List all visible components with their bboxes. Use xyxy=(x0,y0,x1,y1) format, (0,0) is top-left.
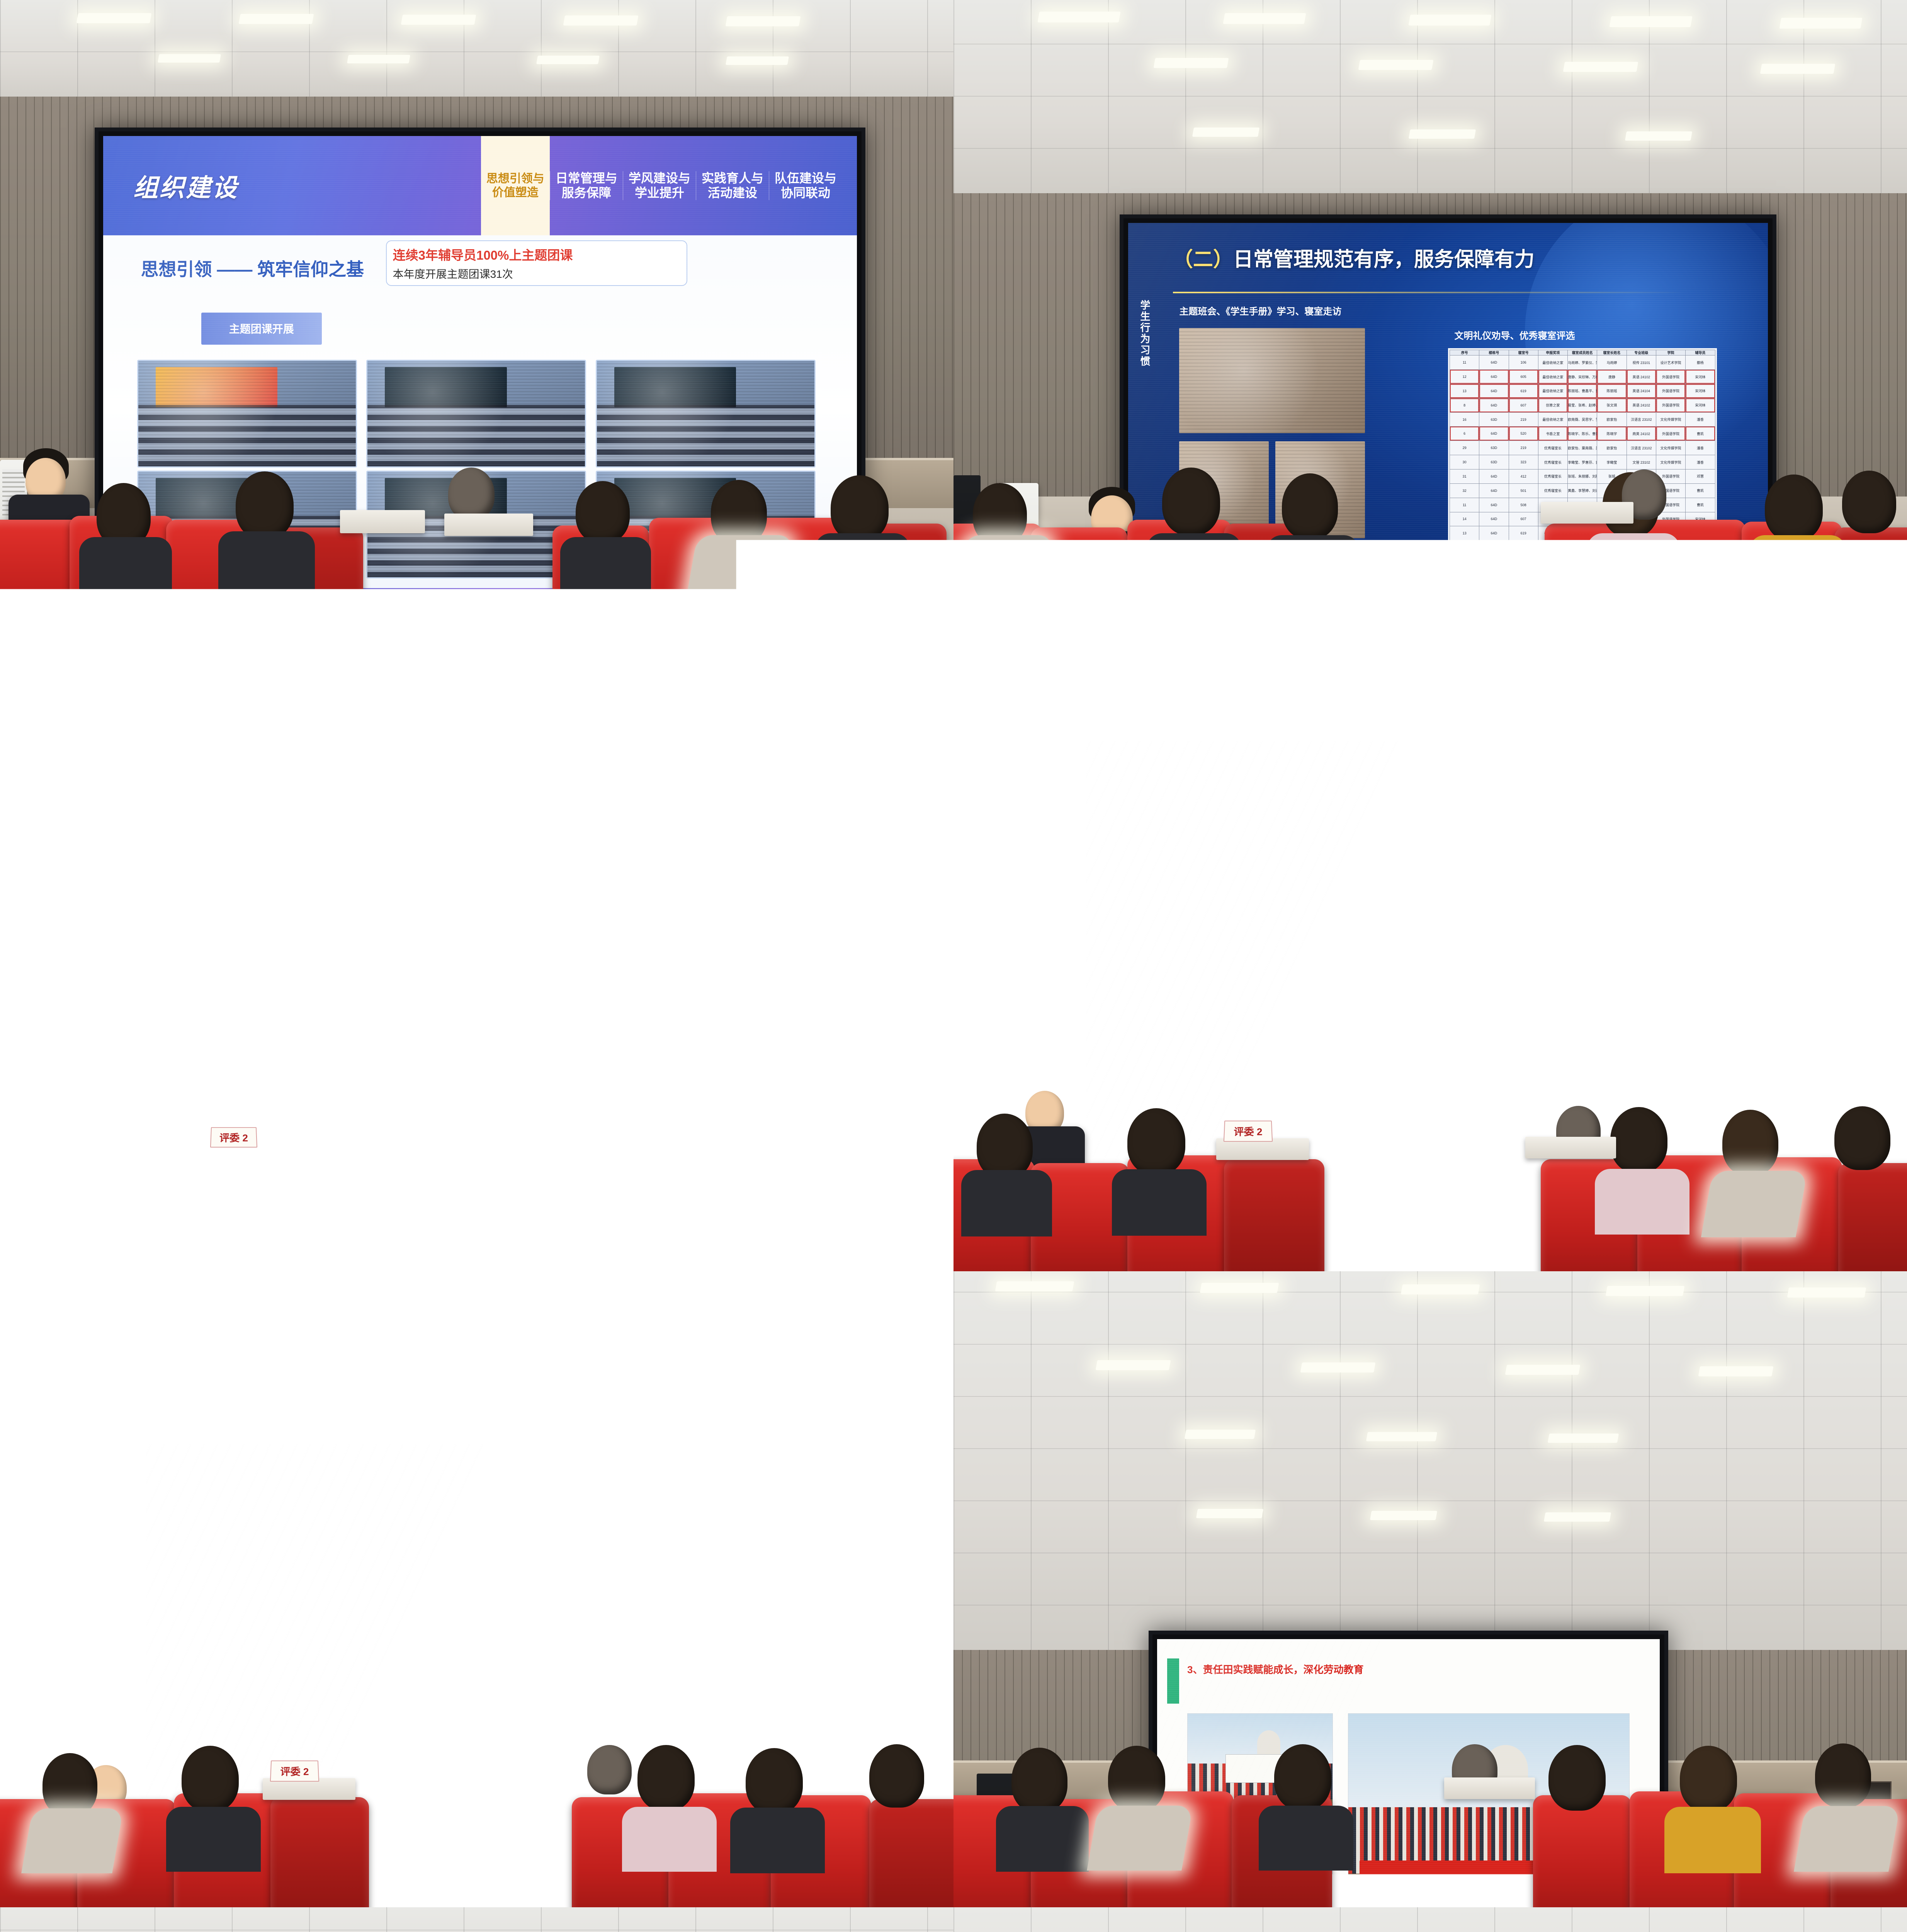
slide-brand-title: 组织建设 xyxy=(133,168,238,204)
logo-text-en: Hunan Applied Technology University xyxy=(724,765,842,771)
slide-title: 3、责任田实践赋能成长，深化劳动教育 xyxy=(1187,1662,1363,1676)
slide-body-paragraph: 2025年党团建设扎实推进、成效显著。全年发展党员45名，29名预备党员按期转正… xyxy=(191,1569,567,1706)
table-cell: 英语 24102 xyxy=(1627,370,1656,384)
core-result-band-1: 核心成效一 xyxy=(476,804,576,833)
panel-1-photo: 组织建设 思想引领与 价值塑造 日常管理与 服务保障 学风建设与 学业提升 实践… xyxy=(0,0,953,636)
table-cell: 12 xyxy=(1450,370,1479,384)
judge-nameplate: 评委 2 xyxy=(1224,1121,1273,1142)
judge-nameplate: 评委 2 xyxy=(210,1127,257,1148)
table-col-header: 申报奖项 xyxy=(1538,350,1567,355)
table-cell: 106 xyxy=(1509,355,1538,370)
school-badge-logo: 文 xyxy=(1110,765,1178,833)
table-row: 1364D619最佳收纳之家陈丽瑶、曹鑫平、曹昭碧、吴嘉怡陈丽瑶英语 24104… xyxy=(1450,384,1715,398)
audience-seating xyxy=(0,396,953,636)
core-result-heading-1: 思政教育全面覆盖 xyxy=(591,809,671,823)
slide-title: （二）日常管理规范有序，服务保障有力 xyxy=(1173,243,1535,272)
slide-tab-2[interactable]: 学风建设与 学业提升 xyxy=(623,171,696,201)
table-col-header: 序号 xyxy=(1450,350,1479,355)
table-cell: 宋河林 xyxy=(1686,384,1715,398)
core-result-heading-2: 党团建设成效显著 xyxy=(591,894,671,908)
slide-caption-left: 主题班会、《学生手册》学习、寝室走访 xyxy=(1179,304,1341,317)
table-cell: 唐静、宋欣琳、万红、王碧艳 xyxy=(1568,370,1597,384)
callout-subtext: 本年度开展主题团课31次 xyxy=(393,266,680,281)
table-cell: 外国语学院 xyxy=(1656,370,1685,384)
table-cell: 马雨婷 xyxy=(1597,355,1627,370)
table-cell: 陈丽瑶 xyxy=(1597,384,1627,398)
slide-tab-4[interactable]: 队伍建设与 协同联动 xyxy=(769,171,842,201)
table-cell: 陈丽瑶、曹鑫平、曹昭碧、吴嘉怡 xyxy=(1568,384,1597,398)
core-result-band-2: 核心成效二 xyxy=(476,889,576,918)
logo-text-en: Hunan Applied Technology University xyxy=(210,1494,340,1500)
table-cell: 视传 23101 xyxy=(1627,355,1656,370)
panel-6-photo: 3、责任田实践赋能成长，深化劳动教育 湖南应用技术学院 Hu xyxy=(953,1271,1907,1907)
slide-photo-thumb xyxy=(604,1559,845,1689)
table-cell: 宋河林 xyxy=(1686,370,1715,384)
table-row: 1164D106最佳收纳之家马雨婷、罗紫仪、蒲秋庆马雨婷视传 23101设计艺术… xyxy=(1450,355,1715,370)
core-result-bullets-1: □ 学生党支部"一月一课一片一实践"超288学时，观看教育片20部； □ 结合抗… xyxy=(476,847,656,866)
table-cell: 蔡杨 xyxy=(1686,355,1715,370)
slide-tab-1[interactable]: 日常管理与 服务保障 xyxy=(550,171,623,201)
university-logo: 湖南应用技术学院 Hunan Applied Technology Univer… xyxy=(693,747,842,774)
slide-subtitle: 文化传媒学院 2025 年度学生工作述职报告 xyxy=(1311,961,1543,979)
table-col-header: 辅导员 xyxy=(1686,350,1715,355)
judge-nameplate: 评委 2 xyxy=(270,1760,319,1782)
table-cell: 619 xyxy=(1509,384,1538,398)
photo-banner-text: 中共湖南应用技术学院设计艺术学院 总支部委员会2025年换届选举大会 xyxy=(191,810,439,878)
slide-title: 一、 工作成效——思想引领与价值塑造 xyxy=(182,754,476,779)
table-cell: 马雨婷、罗紫仪、蒲秋庆 xyxy=(1568,355,1597,370)
slide-subtitle-row: ★★★ 文化传媒学院 2025 年度学生工作述职报告 ★★★ xyxy=(1086,961,1768,979)
table-cell: 64D xyxy=(1479,355,1509,370)
audience-seating: 评委 2 xyxy=(953,1039,1907,1271)
panel-4-photo: 文 ᭥ ᭥ ᭥ 思政铸魂学风筑基 就业赋能育人提质 ★★★ 文化传媒学院 202… xyxy=(953,636,1907,1271)
logo-text-cn: 湖南应用技术学院 xyxy=(210,1476,340,1495)
audience-seating xyxy=(953,1675,1907,1907)
slide-tab-3[interactable]: 实践育人与 活动建设 xyxy=(696,171,769,201)
table-col-header: 专业班级 xyxy=(1627,350,1656,355)
university-logo: 湖南应用技术学院 Hunan Applied Technology Univer… xyxy=(176,1474,340,1503)
panel-7-photo: 党建引领强根基 多维发力育新人 经济管理学院2025年度学生工作述职报告 汇报:… xyxy=(0,1907,953,1932)
logo-text-cn: 湖南应用技术学院 xyxy=(724,750,842,766)
photo-collage-grid: 组织建设 思想引领与 价值塑造 日常管理与 服务保障 学风建设与 学业提升 实践… xyxy=(0,0,1907,1932)
panel-3-photo: 一、 工作成效——思想引领与价值塑造 湖南应用技术学院 Hunan Applie… xyxy=(0,636,953,1271)
slide-photo-group: 中共湖南应用技术学院设计艺术学院 总支部委员会2025年换届选举大会 xyxy=(189,809,440,989)
slide-tab-list: 思想引领与 价值塑造 日常管理与 服务保障 学风建设与 学业提升 实践育人与 活… xyxy=(481,136,842,235)
table-row: 1264D605最佳收纳之家唐静、宋欣琳、万红、王碧艳唐静英语 24102外国语… xyxy=(1450,370,1715,384)
table-col-header: 寝室号 xyxy=(1509,350,1538,355)
table-col-header: 学院 xyxy=(1656,350,1685,355)
table-cell: 最佳收纳之家 xyxy=(1538,370,1567,384)
table-cell: 64D xyxy=(1479,384,1509,398)
slide-chip-label: 主题团课开展 xyxy=(201,313,322,345)
table-col-header: 寝室成员姓名 xyxy=(1568,350,1597,355)
stars-right: ★★★ xyxy=(1548,963,1584,977)
slide-tab-0[interactable]: 思想引领与 价值塑造 xyxy=(481,136,550,235)
table-cell: 英语 24104 xyxy=(1627,384,1656,398)
stars-left: ★★★ xyxy=(1270,963,1305,977)
table-cell: 最佳收纳之家 xyxy=(1538,384,1567,398)
panel-8-photo: 湖南应用技术学院 Hunan Applied Technology Univer… xyxy=(953,1907,1907,1932)
table-cell: 设计艺术学院 xyxy=(1656,355,1685,370)
table-cell: 11 xyxy=(1450,355,1479,370)
birds-icon: ᭥ ᭥ ᭥ xyxy=(1638,804,1679,833)
table-cell: 外国语学院 xyxy=(1656,384,1685,398)
slide-side-label: 学生行为习惯 xyxy=(1138,300,1152,367)
table-cell: 最佳收纳之家 xyxy=(1538,355,1567,370)
slide-nav-bar: 组织建设 思想引领与 价值塑造 日常管理与 服务保障 学风建设与 学业提升 实践… xyxy=(103,136,857,235)
table-cell: 64D xyxy=(1479,370,1509,384)
reporter-pill: 汇报人：杜红梅 xyxy=(1380,993,1474,1014)
badge-glyph: 文 xyxy=(1135,787,1152,812)
table-cell: 唐静 xyxy=(1597,370,1627,384)
slide-callout-box: 连续3年辅导员100%上主题团课 本年度开展主题团课31次 xyxy=(386,240,687,286)
audience-seating xyxy=(953,404,1907,636)
audience-seating: 评委 2 xyxy=(0,1024,953,1271)
slide-header-right: 思想引领铸魂，价值塑造润心 xyxy=(687,1484,867,1504)
table-cell: 13 xyxy=(1450,384,1479,398)
table-col-header: 寝室长姓名 xyxy=(1597,350,1627,355)
panel-2-photo: （二）日常管理规范有序，服务保障有力 学生行为习惯 主题班会、《学生手册》学习、… xyxy=(953,0,1907,636)
slide-section-title: 思想引领 —— 筑牢信仰之基 xyxy=(141,255,364,281)
slide-main-title: 思政铸魂学风筑基 就业赋能育人提质 xyxy=(1086,888,1768,934)
table-col-header: 楼栋号 xyxy=(1479,350,1509,355)
core-result-bullets-2: □ 完成党总支及支部换届，现有1个教工党支部、2个学生党支部； □ 全年发展党员… xyxy=(469,932,709,961)
core-result-heading-3: 先进典型培育工程 xyxy=(591,1008,671,1022)
panel-5-photo: 湖南应用技术学院 Hunan Applied Technology Univer… xyxy=(0,1271,953,1907)
slide-caption-right: 文明礼仪劝导、优秀寝室评选 xyxy=(1455,328,1575,342)
callout-highlight: 连续3年辅导员100%上主题团课 xyxy=(393,245,680,264)
audience-seating: 评委 2 xyxy=(0,1691,953,1907)
table-cell: 605 xyxy=(1509,370,1538,384)
